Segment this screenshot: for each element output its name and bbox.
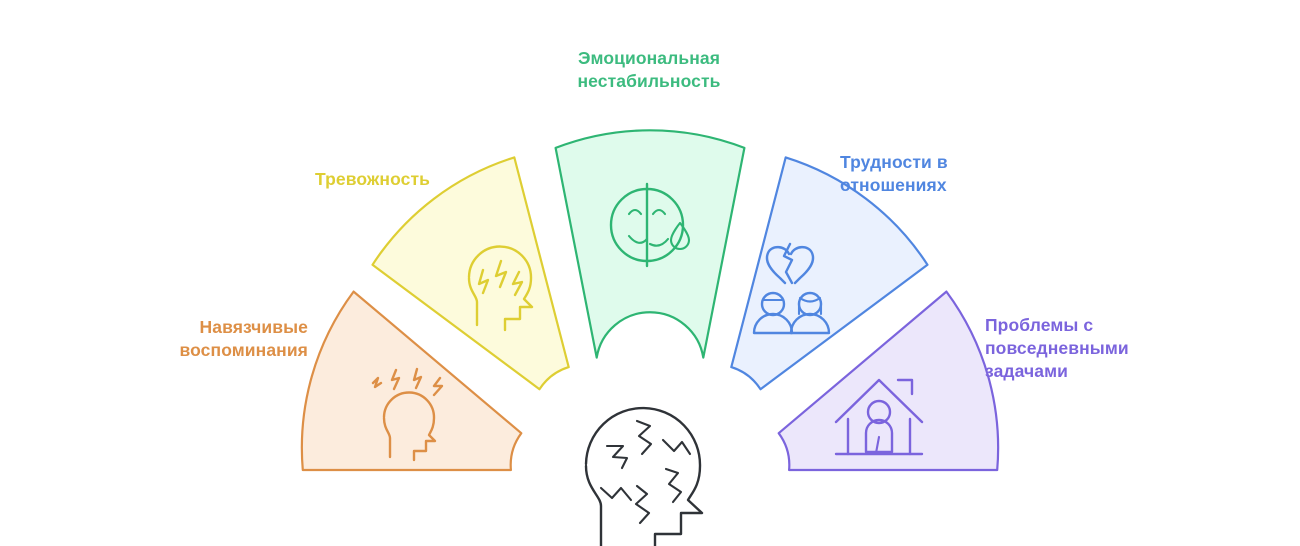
head-with-chaotic-thoughts-icon	[586, 408, 702, 546]
diagram-canvas: Эмоциональная нестабильность Тревожность…	[0, 0, 1300, 546]
label-emotional: Эмоциональная нестабильность	[529, 47, 769, 93]
label-anxiety: Тревожность	[190, 168, 430, 191]
label-daily: Проблемы с повседневными задачами	[985, 314, 1245, 383]
label-relations: Трудности в отношениях	[840, 151, 1080, 197]
label-memories: Навязчивые воспоминания	[38, 316, 308, 362]
segment-emotional[interactable]	[556, 130, 745, 357]
